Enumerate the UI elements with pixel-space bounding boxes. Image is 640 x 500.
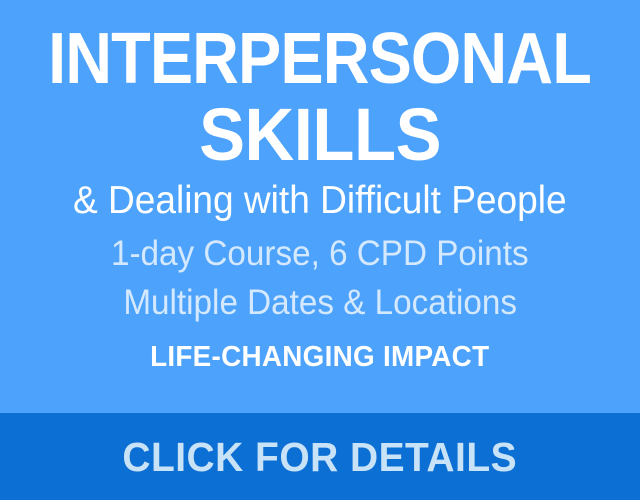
ad-subtitle: & Dealing with Difficult People — [73, 180, 567, 222]
headline-secondary: SKILLS — [199, 98, 441, 172]
ad-tagline: LIFE-CHANGING IMPACT — [150, 341, 489, 373]
call-to-action-label: CLICK FOR DETAILS — [123, 435, 518, 479]
ad-detail-course-info: 1-day Course, 6 CPD Points — [111, 234, 529, 274]
call-to-action-bar[interactable]: CLICK FOR DETAILS — [0, 413, 640, 500]
headline-primary: INTERPERSONAL — [49, 22, 592, 96]
ad-content-area: INTERPERSONAL SKILLS & Dealing with Diff… — [0, 0, 640, 413]
advertisement-banner[interactable]: INTERPERSONAL SKILLS & Dealing with Diff… — [0, 0, 640, 500]
ad-detail-dates-locations: Multiple Dates & Locations — [123, 283, 517, 323]
